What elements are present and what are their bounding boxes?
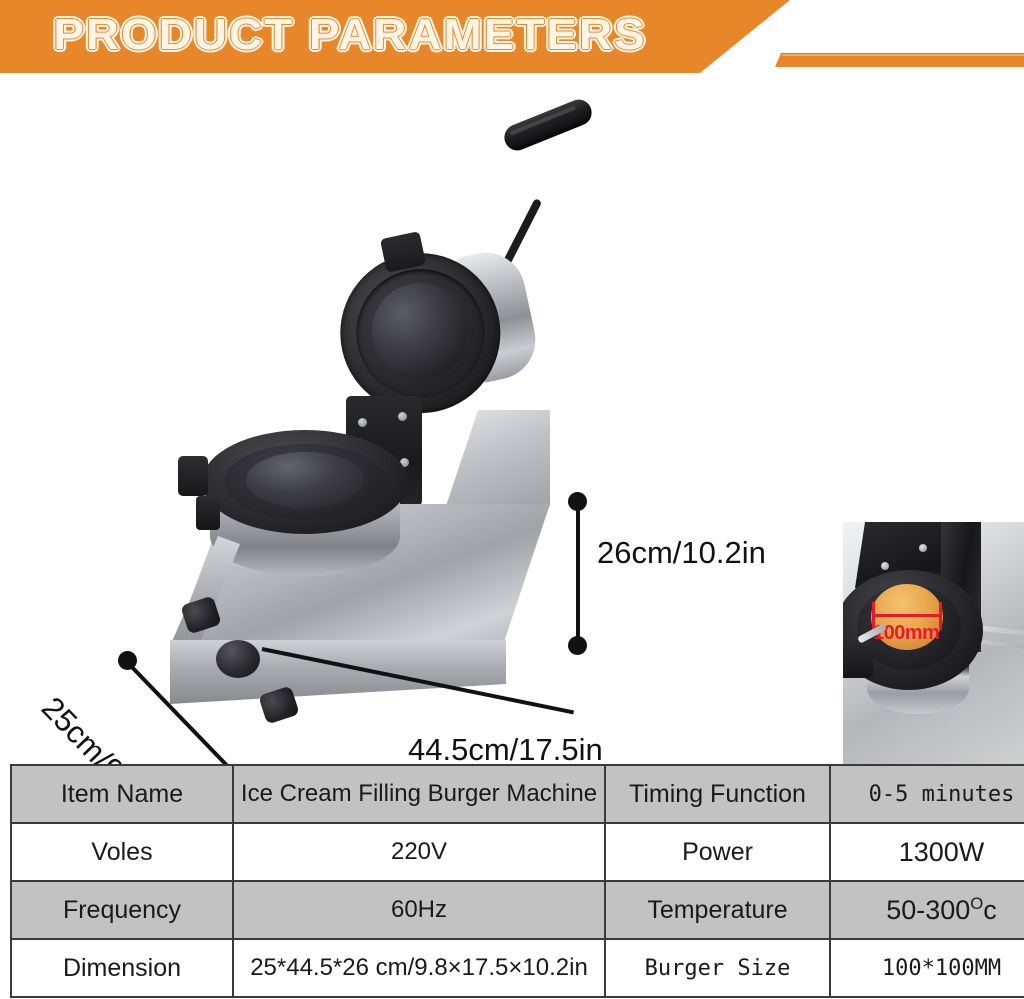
spec-label: Burger Size bbox=[605, 939, 830, 997]
specification-table: Item Name Ice Cream Filling Burger Machi… bbox=[10, 764, 1024, 998]
product-photo-area: 26cm/10.2in 44.5cm/17.5in 25cm/9.8in bbox=[0, 80, 1024, 760]
width-dimension-label: 44.5cm/17.5in bbox=[408, 732, 603, 768]
dimension-dot-icon bbox=[568, 492, 587, 511]
spec-value: 100*100MM bbox=[830, 939, 1024, 997]
spec-value: 60Hz bbox=[233, 881, 605, 939]
spec-value: 1300W bbox=[830, 823, 1024, 881]
spec-label: Dimension bbox=[11, 939, 233, 997]
height-dimension-line bbox=[576, 505, 580, 645]
bolt-icon bbox=[919, 544, 927, 552]
temp-unit: c bbox=[983, 895, 997, 925]
dimension-dot-icon bbox=[568, 636, 587, 655]
dimension-dot-icon bbox=[118, 651, 137, 670]
inset-clip bbox=[843, 640, 873, 678]
bolt-icon bbox=[881, 562, 889, 570]
spec-value: Ice Cream Filling Burger Machine bbox=[233, 765, 605, 823]
handle-grip bbox=[500, 96, 595, 155]
spec-label: Temperature bbox=[605, 881, 830, 939]
degree-symbol: O bbox=[970, 894, 983, 913]
table-row: Dimension 25*44.5*26 cm/9.8×17.5×10.2in … bbox=[11, 939, 1024, 997]
burger-size-inset-photo: 100mm bbox=[843, 522, 1024, 773]
spec-label: Power bbox=[605, 823, 830, 881]
page-title: PRODUCT PARAMETERS bbox=[0, 6, 714, 64]
hinge-bolt-icon bbox=[358, 418, 367, 427]
hinge-bolt-icon bbox=[398, 412, 407, 421]
table-row: Frequency 60Hz Temperature 50-300Oc bbox=[11, 881, 1024, 939]
spec-value: 220V bbox=[233, 823, 605, 881]
height-dimension-label: 26cm/10.2in bbox=[597, 535, 766, 571]
mold-clip-secondary bbox=[196, 496, 220, 530]
lower-mold-dome bbox=[246, 452, 364, 508]
spec-label: Voles bbox=[11, 823, 233, 881]
table-row: Item Name Ice Cream Filling Burger Machi… bbox=[11, 765, 1024, 823]
spec-label: Item Name bbox=[11, 765, 233, 823]
measure-end-cap-right bbox=[939, 602, 942, 630]
spec-value: 25*44.5*26 cm/9.8×17.5×10.2in bbox=[233, 939, 605, 997]
banner-accent-bar-highlight bbox=[782, 54, 1024, 56]
spec-label: Frequency bbox=[11, 881, 233, 939]
table-row: Voles 220V Power 1300W bbox=[11, 823, 1024, 881]
mold-clip bbox=[178, 456, 208, 496]
control-knob bbox=[216, 640, 260, 678]
product-parameters-page: PRODUCT PARAMETERS bbox=[0, 0, 1024, 999]
spec-value-temperature: 50-300Oc bbox=[830, 881, 1024, 939]
measure-line bbox=[873, 614, 941, 617]
temp-range: 50-300 bbox=[886, 895, 970, 925]
header-banner: PRODUCT PARAMETERS bbox=[0, 0, 1024, 80]
spec-value: 0-5 minutes bbox=[830, 765, 1024, 823]
machine-illustration bbox=[150, 100, 570, 720]
spec-label: Timing Function bbox=[605, 765, 830, 823]
